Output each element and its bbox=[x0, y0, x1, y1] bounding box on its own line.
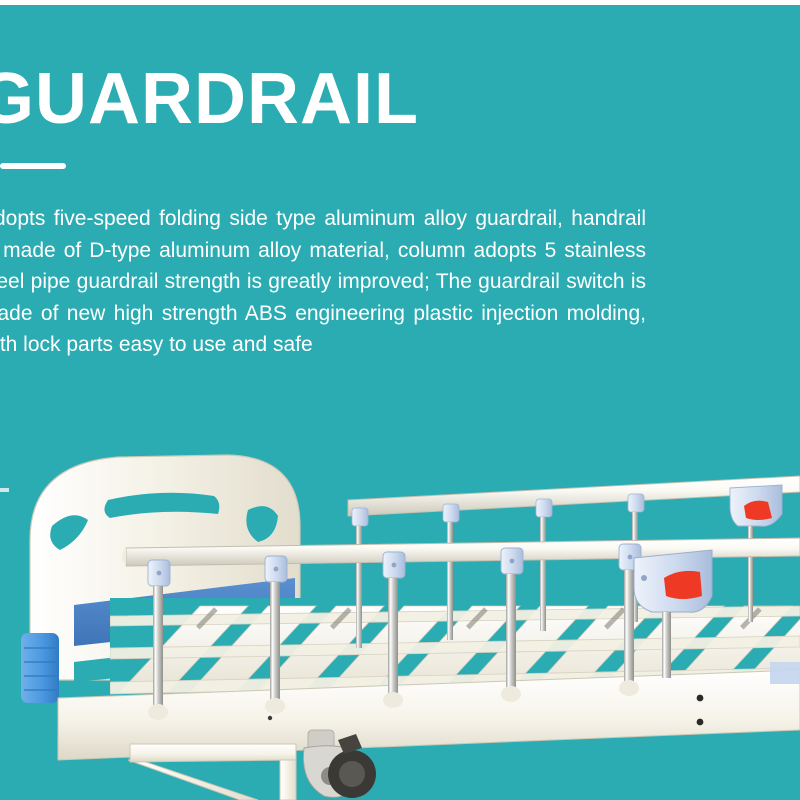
description-text: Adopts five-speed folding side type alum… bbox=[0, 203, 646, 361]
title-underline-rule bbox=[0, 163, 66, 169]
page-title: GUARDRAIL bbox=[0, 63, 419, 135]
top-white-strip bbox=[0, 0, 800, 5]
banner-canvas: GUARDRAIL Adopts five-speed folding side… bbox=[0, 0, 800, 800]
description-paragraph: Adopts five-speed folding side type alum… bbox=[0, 203, 646, 361]
corner-bumper bbox=[21, 633, 59, 703]
product-photo bbox=[0, 430, 800, 800]
